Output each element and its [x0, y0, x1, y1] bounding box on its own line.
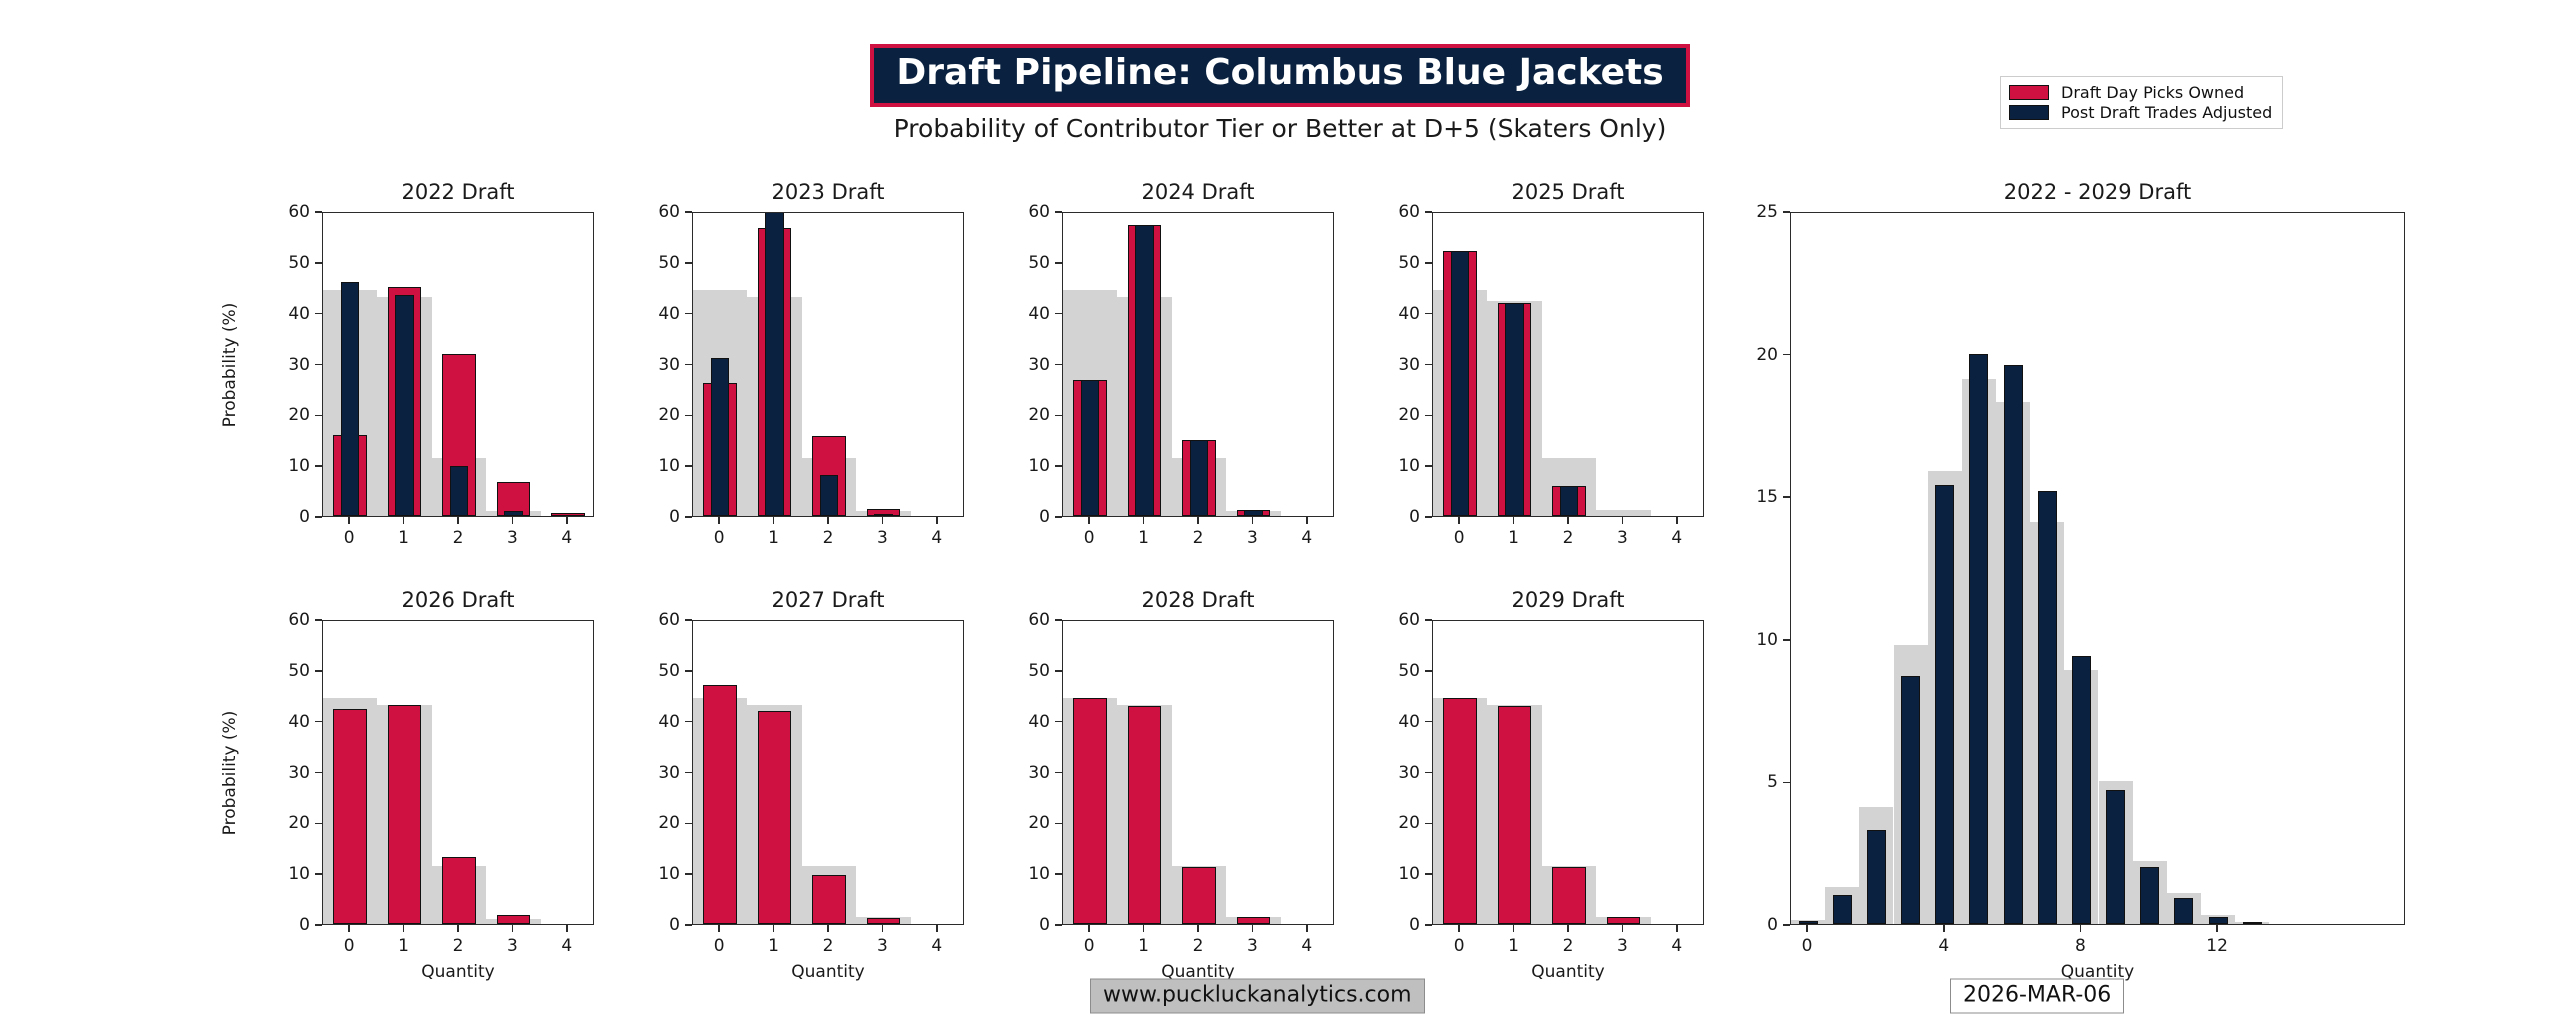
y-tick-label: 20: [252, 405, 310, 425]
bar-navy-3: [1901, 676, 1920, 924]
y-tick-label: 40: [622, 304, 680, 324]
y-tick-mark: [315, 313, 322, 315]
bar-red-4: [551, 513, 585, 516]
chart-legend: Draft Day Picks Owned Post Draft Trades …: [2000, 76, 2283, 129]
y-tick-mark: [1425, 415, 1432, 417]
bar-navy-2: [1190, 440, 1208, 516]
footer-date: 2026-MAR-06: [1950, 979, 2124, 1014]
bar-navy-0: [341, 282, 359, 516]
bar-red-2: [1552, 867, 1586, 924]
y-tick-label: 10: [992, 864, 1050, 884]
y-tick-label: 60: [252, 202, 310, 222]
y-tick-label: 20: [1362, 813, 1420, 833]
x-tick-label: 12: [2206, 936, 2228, 956]
x-tick-label: 2: [453, 528, 464, 548]
x-tick-label: 2: [823, 528, 834, 548]
y-tick-label: 10: [1362, 864, 1420, 884]
y-tick-mark: [1783, 924, 1790, 926]
x-tick-mark: [1252, 517, 1254, 524]
y-tick-mark: [315, 619, 322, 621]
x-tick-mark: [348, 925, 350, 932]
y-tick-mark: [685, 465, 692, 467]
y-tick-mark: [1425, 873, 1432, 875]
x-tick-mark: [1088, 517, 1090, 524]
bar-navy-7: [2038, 491, 2057, 925]
y-tick-mark: [1425, 262, 1432, 264]
x-tick-mark: [1143, 517, 1145, 524]
y-tick-mark: [1055, 670, 1062, 672]
bar-red-1: [1498, 706, 1532, 924]
y-tick-label: 20: [1720, 345, 1778, 365]
bar-navy-5: [1969, 354, 1988, 924]
y-tick-mark: [685, 262, 692, 264]
x-tick-mark: [2216, 925, 2218, 932]
y-tick-label: 20: [622, 405, 680, 425]
x-tick-mark: [1197, 925, 1199, 932]
y-tick-label: 50: [252, 253, 310, 273]
bar-red-1: [1128, 706, 1162, 924]
x-tick-label: 2: [1563, 936, 1574, 956]
y-tick-label: 10: [252, 864, 310, 884]
x-tick-mark: [1806, 925, 1808, 932]
x-tick-mark: [1513, 925, 1515, 932]
bar-navy-12: [2209, 917, 2228, 924]
x-tick-label: 4: [1938, 936, 1949, 956]
bar-navy-11: [2174, 898, 2193, 924]
y-tick-mark: [315, 211, 322, 213]
y-tick-label: 20: [622, 813, 680, 833]
subplot-title: 2022 - 2029 Draft: [1790, 180, 2405, 204]
x-tick-mark: [1458, 517, 1460, 524]
x-tick-mark: [1252, 925, 1254, 932]
x-tick-label: 3: [507, 528, 518, 548]
y-tick-label: 40: [622, 712, 680, 732]
y-tick-label: 10: [252, 456, 310, 476]
legend-swatch-navy: [2009, 105, 2049, 120]
bar-navy-2: [1560, 486, 1578, 516]
y-tick-mark: [315, 415, 322, 417]
y-tick-mark: [1425, 619, 1432, 621]
y-tick-label: 10: [992, 456, 1050, 476]
bar-navy-3: [504, 511, 522, 516]
y-tick-label: 50: [1362, 661, 1420, 681]
x-tick-label: 1: [1138, 936, 1149, 956]
footer-website: www.puckluckanalytics.com: [1090, 979, 1425, 1014]
x-tick-label: 0: [714, 936, 725, 956]
y-tick-label: 40: [1362, 304, 1420, 324]
y-tick-mark: [1425, 313, 1432, 315]
x-tick-label: 2: [1193, 528, 1204, 548]
bar-red-1: [758, 711, 792, 925]
bar-red-0: [703, 685, 737, 924]
y-tick-mark: [1783, 782, 1790, 784]
y-tick-mark: [685, 772, 692, 774]
x-tick-mark: [348, 517, 350, 524]
y-tick-label: 60: [1362, 610, 1420, 630]
y-tick-label: 5: [1720, 772, 1778, 792]
x-tick-mark: [1513, 517, 1515, 524]
x-tick-label: 0: [344, 936, 355, 956]
y-tick-label: 30: [622, 355, 680, 375]
title-banner: Draft Pipeline: Columbus Blue Jackets: [870, 44, 1689, 107]
subplot-2022-2029-draft: 2022 - 2029 Draft051015202504812Quantity: [1620, 172, 2435, 1015]
y-tick-mark: [685, 619, 692, 621]
x-tick-mark: [882, 925, 884, 932]
x-tick-label: 1: [398, 936, 409, 956]
x-tick-label: 3: [1247, 936, 1258, 956]
bar-navy-10: [2140, 867, 2159, 924]
x-tick-mark: [1088, 925, 1090, 932]
y-tick-label: 60: [252, 610, 310, 630]
x-tick-label: 1: [768, 936, 779, 956]
y-tick-mark: [1055, 823, 1062, 825]
x-tick-label: 1: [768, 528, 779, 548]
y-tick-mark: [1055, 313, 1062, 315]
y-tick-mark: [1425, 924, 1432, 926]
bar-red-0: [333, 709, 367, 924]
y-tick-label: 50: [622, 253, 680, 273]
bars-layer: [1791, 213, 2404, 924]
y-tick-label: 30: [622, 763, 680, 783]
bar-navy-1: [1505, 303, 1523, 516]
y-tick-mark: [315, 670, 322, 672]
y-tick-label: 60: [1362, 202, 1420, 222]
y-tick-label: 0: [252, 915, 310, 935]
bar-navy-0: [1799, 921, 1818, 924]
y-tick-mark: [1055, 211, 1062, 213]
y-tick-label: 10: [1362, 456, 1420, 476]
bar-red-3: [497, 915, 531, 924]
y-tick-mark: [315, 465, 322, 467]
y-tick-mark: [1055, 619, 1062, 621]
x-tick-label: 1: [1508, 528, 1519, 548]
bar-navy-1: [1135, 225, 1153, 516]
y-tick-mark: [685, 873, 692, 875]
x-tick-label: 0: [1084, 528, 1095, 548]
bar-navy-0: [1081, 380, 1099, 516]
bar-navy-2: [820, 475, 838, 516]
y-axis-label: Probability (%): [220, 302, 240, 427]
y-tick-mark: [685, 313, 692, 315]
y-tick-label: 40: [992, 304, 1050, 324]
y-tick-mark: [1055, 516, 1062, 518]
x-tick-mark: [1567, 517, 1569, 524]
bar-navy-6: [2004, 365, 2023, 924]
legend-swatch-red: [2009, 85, 2049, 100]
y-tick-mark: [1425, 465, 1432, 467]
y-tick-label: 0: [1720, 915, 1778, 935]
bar-red-2: [812, 875, 846, 924]
y-tick-label: 0: [622, 507, 680, 527]
x-tick-mark: [718, 517, 720, 524]
y-tick-mark: [1055, 772, 1062, 774]
x-tick-mark: [512, 517, 514, 524]
bar-navy-8: [2072, 656, 2091, 924]
bar-navy-0: [711, 358, 729, 516]
y-tick-mark: [1783, 639, 1790, 641]
bar-navy-13: [2243, 922, 2262, 924]
y-tick-label: 20: [1362, 405, 1420, 425]
y-tick-mark: [1055, 364, 1062, 366]
y-tick-mark: [1425, 211, 1432, 213]
y-tick-mark: [685, 924, 692, 926]
y-tick-label: 10: [622, 456, 680, 476]
y-tick-label: 50: [252, 661, 310, 681]
bar-navy-1: [765, 213, 783, 516]
y-tick-mark: [315, 823, 322, 825]
y-tick-label: 30: [252, 763, 310, 783]
y-tick-mark: [1055, 721, 1062, 723]
bar-red-3: [1237, 917, 1271, 924]
y-tick-mark: [685, 211, 692, 213]
bar-navy-2: [1867, 830, 1886, 924]
y-tick-mark: [1425, 670, 1432, 672]
x-tick-mark: [403, 925, 405, 932]
x-tick-label: 1: [1508, 936, 1519, 956]
y-tick-label: 15: [1720, 487, 1778, 507]
y-tick-mark: [685, 364, 692, 366]
x-tick-mark: [773, 925, 775, 932]
y-tick-label: 0: [622, 915, 680, 935]
y-tick-mark: [685, 516, 692, 518]
x-tick-mark: [827, 925, 829, 932]
y-tick-mark: [315, 873, 322, 875]
x-tick-mark: [882, 517, 884, 524]
y-tick-mark: [1783, 496, 1790, 498]
y-tick-label: 50: [622, 661, 680, 681]
y-tick-label: 60: [992, 202, 1050, 222]
bar-red-3: [867, 918, 901, 924]
y-tick-label: 40: [1362, 712, 1420, 732]
y-tick-label: 20: [992, 813, 1050, 833]
x-tick-mark: [1197, 517, 1199, 524]
y-tick-label: 60: [622, 202, 680, 222]
x-tick-label: 2: [1563, 528, 1574, 548]
bar-navy-1: [395, 295, 413, 516]
x-tick-label: 0: [1454, 528, 1465, 548]
legend-item-draft-day-picks-owned: Draft Day Picks Owned: [2009, 82, 2272, 102]
bar-red-0: [1443, 698, 1477, 924]
page-title: Draft Pipeline: Columbus Blue Jackets: [896, 54, 1663, 93]
y-tick-mark: [1055, 924, 1062, 926]
y-tick-label: 20: [992, 405, 1050, 425]
y-tick-label: 10: [1720, 630, 1778, 650]
y-tick-label: 50: [992, 253, 1050, 273]
bar-gray-3: [1596, 510, 1650, 516]
y-tick-label: 0: [1362, 507, 1420, 527]
y-tick-mark: [1055, 873, 1062, 875]
x-tick-label: 0: [714, 528, 725, 548]
x-tick-label: 0: [344, 528, 355, 548]
y-tick-mark: [315, 262, 322, 264]
y-tick-mark: [1055, 262, 1062, 264]
y-tick-label: 40: [252, 304, 310, 324]
y-tick-label: 30: [992, 355, 1050, 375]
y-tick-mark: [1425, 516, 1432, 518]
y-tick-mark: [685, 823, 692, 825]
y-tick-mark: [315, 924, 322, 926]
y-tick-mark: [315, 772, 322, 774]
x-tick-mark: [1943, 925, 1945, 932]
legend-item-post-draft-trades-adjusted: Post Draft Trades Adjusted: [2009, 102, 2272, 122]
y-tick-label: 0: [992, 915, 1050, 935]
y-tick-label: 0: [992, 507, 1050, 527]
y-tick-mark: [685, 670, 692, 672]
bar-red-3: [1607, 917, 1641, 924]
y-tick-label: 20: [252, 813, 310, 833]
x-tick-mark: [718, 925, 720, 932]
y-tick-label: 40: [992, 712, 1050, 732]
y-tick-mark: [1425, 364, 1432, 366]
y-tick-mark: [1783, 354, 1790, 356]
y-tick-mark: [315, 364, 322, 366]
y-tick-label: 10: [622, 864, 680, 884]
y-tick-mark: [1425, 772, 1432, 774]
legend-label-1: Post Draft Trades Adjusted: [2061, 103, 2272, 122]
x-tick-label: 2: [1193, 936, 1204, 956]
x-tick-label: 8: [2075, 936, 2086, 956]
y-tick-label: 50: [992, 661, 1050, 681]
x-tick-label: 2: [823, 936, 834, 956]
y-tick-label: 0: [1362, 915, 1420, 935]
y-tick-label: 50: [1362, 253, 1420, 273]
legend-label-0: Draft Day Picks Owned: [2061, 83, 2244, 102]
x-tick-mark: [2080, 925, 2082, 932]
x-tick-mark: [512, 925, 514, 932]
x-tick-mark: [1458, 925, 1460, 932]
bar-navy-0: [1451, 251, 1469, 516]
x-tick-label: 0: [1084, 936, 1095, 956]
y-tick-mark: [315, 721, 322, 723]
y-tick-mark: [1783, 211, 1790, 213]
y-tick-mark: [685, 415, 692, 417]
bar-red-1: [388, 705, 422, 924]
y-tick-mark: [685, 721, 692, 723]
y-tick-label: 60: [992, 610, 1050, 630]
y-tick-label: 30: [252, 355, 310, 375]
bar-navy-3: [874, 514, 892, 516]
x-tick-label: 0: [1454, 936, 1465, 956]
x-tick-label: 2: [453, 936, 464, 956]
x-tick-label: 0: [1802, 936, 1813, 956]
x-tick-label: 1: [1138, 528, 1149, 548]
x-tick-mark: [773, 517, 775, 524]
bar-red-2: [1182, 867, 1216, 924]
x-tick-mark: [403, 517, 405, 524]
x-tick-mark: [457, 517, 459, 524]
x-tick-mark: [1143, 925, 1145, 932]
x-tick-label: 3: [507, 936, 518, 956]
bar-navy-2: [450, 466, 468, 516]
x-tick-mark: [457, 925, 459, 932]
bar-navy-3: [1244, 510, 1262, 516]
bar-red-2: [442, 857, 476, 924]
y-tick-mark: [1055, 465, 1062, 467]
y-tick-label: 30: [1362, 763, 1420, 783]
y-axis-label: Probability (%): [220, 710, 240, 835]
bar-navy-1: [1833, 895, 1852, 924]
y-tick-mark: [315, 516, 322, 518]
x-tick-label: 3: [1247, 528, 1258, 548]
bar-navy-4: [1935, 485, 1954, 924]
x-tick-mark: [1567, 925, 1569, 932]
plot-area: [1790, 212, 2405, 925]
y-tick-label: 60: [622, 610, 680, 630]
x-tick-label: 3: [877, 528, 888, 548]
y-tick-label: 40: [252, 712, 310, 732]
x-tick-mark: [827, 517, 829, 524]
y-tick-label: 0: [252, 507, 310, 527]
y-tick-mark: [1425, 721, 1432, 723]
bar-navy-9: [2106, 790, 2125, 924]
y-tick-mark: [1055, 415, 1062, 417]
x-tick-label: 3: [877, 936, 888, 956]
y-tick-mark: [1425, 823, 1432, 825]
y-tick-label: 30: [992, 763, 1050, 783]
y-tick-label: 30: [1362, 355, 1420, 375]
x-tick-label: 1: [398, 528, 409, 548]
bar-red-0: [1073, 698, 1107, 924]
y-tick-label: 25: [1720, 202, 1778, 222]
